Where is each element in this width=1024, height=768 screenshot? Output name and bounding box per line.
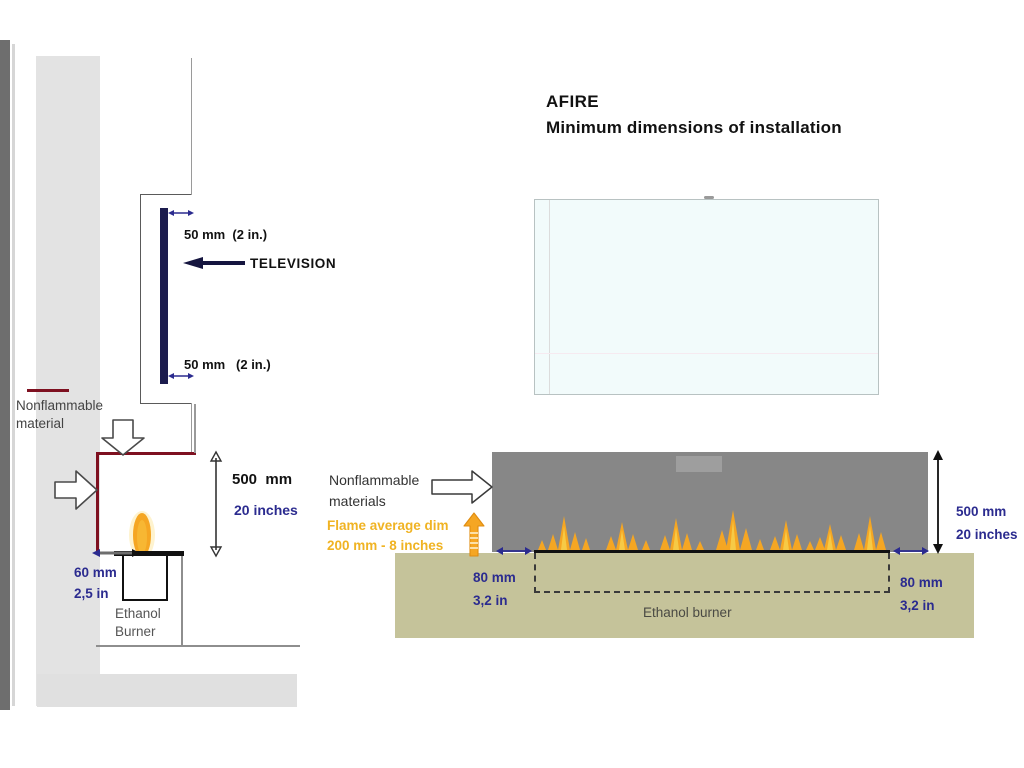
height-dimension-arrow-left [208,452,224,556]
ethanol-burner-label-right: Ethanol burner [643,605,732,620]
block-arrow-up-icon [463,513,485,557]
nonflammable-legend-swatch [27,389,69,392]
wall-band-light [36,56,100,706]
right-nonflammable-label-line1: Nonflammable [329,472,419,488]
side-clearance-left-arrow [496,544,532,558]
wall-line-lower [191,403,192,453]
flame-dim-label-line1: Flame average dim [327,518,449,533]
ethanol-burner-label-line1: Ethanol [115,606,161,621]
left-edge-thin-bar [12,44,15,706]
flame-row-icon [534,500,890,551]
height-in-label-right: 20 inches [956,527,1018,542]
page-title: Minimum dimensions of installation [546,118,842,138]
floor-line-left [96,645,300,647]
television-panel [160,208,168,384]
television-pointer-arrow [183,256,245,270]
television-screen-divider [549,200,550,394]
side-clearance-right-mm: 80 mm [900,575,943,590]
left-edge-dark-bar [0,40,10,710]
height-mm-label-right: 500 mm [956,504,1006,519]
block-arrow-right-icon [55,468,99,512]
clearance-bottom-label: 50 mm (2 in.) [184,357,271,372]
television-mount-nub [704,196,714,199]
side-clearance-left-mm: 80 mm [473,570,516,585]
right-nonflammable-label-line2: materials [329,493,386,509]
niche-outline-bottom [140,403,192,404]
side-clearance-left-in: 3,2 in [473,593,508,608]
wall-highlight-patch [676,456,722,472]
block-arrow-down-icon [100,420,146,456]
nonflammable-label-line2: material [16,416,64,431]
niche-outline-left [140,194,141,404]
ethanol-burner-box [122,556,168,601]
television-label: TELEVISION [250,256,336,271]
hearth-outline-right [181,556,183,646]
flame-dim-label-line2: 200 mm - 8 inches [327,538,443,553]
height-dimension-arrow-right [930,450,946,554]
floor-slab-left [37,674,297,707]
front-offset-arrow [92,546,140,560]
television-screen [534,199,879,395]
height-in-label-left: 20 inches [234,502,298,518]
ethanol-burner-label-line2: Burner [115,624,156,639]
side-clearance-right-arrow [893,544,929,558]
front-offset-mm-label: 60 mm [74,565,117,580]
nonflammable-label-line1: Nonflammable [16,398,103,413]
television-screen-seam [535,353,878,354]
block-arrow-right-icon-right-view [432,470,494,504]
niche-outline-top [140,194,192,195]
brand-title: AFIRE [546,92,599,112]
diagram-canvas: 50 mm (2 in.) 50 mm (2 in.) TELEVISION N… [0,0,1024,768]
ethanol-burner-outline-right [534,553,890,593]
wall-line-upper [191,58,192,195]
front-offset-in-label: 2,5 in [74,586,109,601]
niche-inner-line [194,404,196,453]
clearance-top-label: 50 mm (2 in.) [184,227,267,242]
height-mm-label-left: 500 mm [232,471,292,488]
clearance-top-arrow [168,206,194,220]
side-clearance-right-in: 3,2 in [900,598,935,613]
